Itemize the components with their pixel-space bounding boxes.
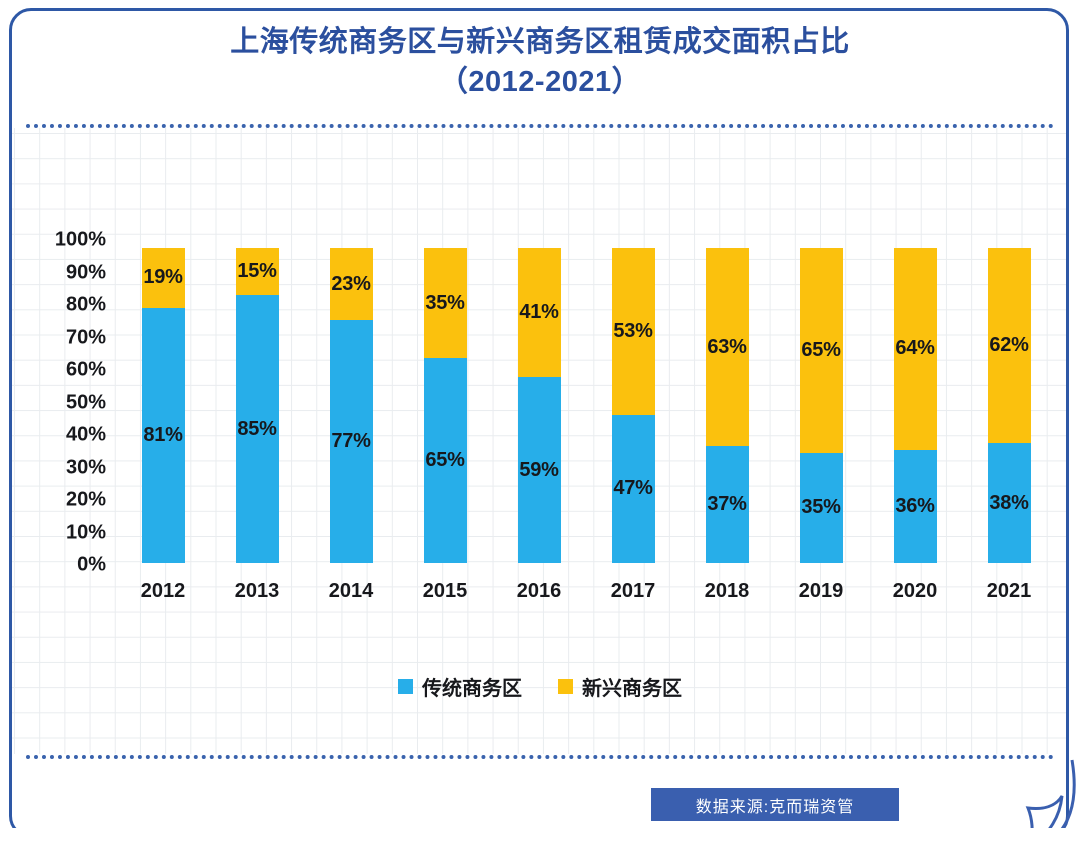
bar-segment-emerging[interactable]: 35% bbox=[424, 248, 467, 358]
bar-series-group: 19%81%15%85%23%77%35%65%41%59%53%47%63%3… bbox=[116, 248, 1056, 563]
legend-label: 新兴商务区 bbox=[582, 672, 682, 701]
y-axis-tick-label: 100% bbox=[22, 229, 106, 252]
bar-column[interactable]: 62%38% bbox=[962, 248, 1056, 563]
bar-value-label-emerging: 35% bbox=[425, 292, 464, 315]
x-axis-tick-label: 2021 bbox=[962, 580, 1056, 603]
bar-value-label-emerging: 64% bbox=[895, 337, 934, 360]
bar-column[interactable]: 41%59% bbox=[492, 248, 586, 563]
bar-segment-traditional[interactable]: 77% bbox=[330, 320, 373, 563]
bar-value-label-emerging: 63% bbox=[707, 336, 746, 359]
legend-item[interactable]: 新兴商务区 bbox=[558, 672, 682, 701]
bar-segment-traditional[interactable]: 35% bbox=[800, 453, 843, 563]
bar-segment-traditional[interactable]: 36% bbox=[894, 450, 937, 563]
bar-value-label-emerging: 41% bbox=[519, 301, 558, 324]
bar-segment-traditional[interactable]: 81% bbox=[142, 308, 185, 563]
bar-value-label-traditional: 65% bbox=[425, 449, 464, 472]
bar-column[interactable]: 65%35% bbox=[774, 248, 868, 563]
y-axis-tick-label: 70% bbox=[22, 326, 106, 349]
chart-page: 上海传统商务区与新兴商务区租赁成交面积占比 （2012-2021） 100%90… bbox=[0, 0, 1080, 856]
bar-segment-traditional[interactable]: 37% bbox=[706, 446, 749, 563]
bar-segment-emerging[interactable]: 63% bbox=[706, 248, 749, 446]
bar-column[interactable]: 64%36% bbox=[868, 248, 962, 563]
legend-item[interactable]: 传统商务区 bbox=[398, 672, 522, 701]
bar-value-label-emerging: 62% bbox=[989, 334, 1028, 357]
bar-value-label-traditional: 35% bbox=[801, 496, 840, 519]
bar-value-label-traditional: 38% bbox=[989, 492, 1028, 515]
bar-segment-emerging[interactable]: 62% bbox=[988, 248, 1031, 443]
bar-value-label-emerging: 65% bbox=[801, 339, 840, 362]
x-axis-tick-label: 2014 bbox=[304, 580, 398, 603]
x-axis-tick-label: 2019 bbox=[774, 580, 868, 603]
y-axis-tick-label: 80% bbox=[22, 294, 106, 317]
bar-segment-traditional[interactable]: 65% bbox=[424, 358, 467, 563]
x-axis: 2012201320142015201620172018201920202021 bbox=[116, 580, 1056, 603]
bar-column[interactable]: 19%81% bbox=[116, 248, 210, 563]
bar-value-label-emerging: 19% bbox=[143, 266, 182, 289]
bar-segment-emerging[interactable]: 41% bbox=[518, 248, 561, 377]
x-axis-tick-label: 2020 bbox=[868, 580, 962, 603]
bar-value-label-traditional: 59% bbox=[519, 459, 558, 482]
y-axis-tick-label: 90% bbox=[22, 261, 106, 284]
bar-column[interactable]: 53%47% bbox=[586, 248, 680, 563]
x-axis-tick-label: 2012 bbox=[116, 580, 210, 603]
bar-column[interactable]: 35%65% bbox=[398, 248, 492, 563]
bar-value-label-traditional: 85% bbox=[237, 418, 276, 441]
bar-column[interactable]: 23%77% bbox=[304, 248, 398, 563]
bar-value-label-traditional: 77% bbox=[331, 430, 370, 453]
x-axis-tick-label: 2016 bbox=[492, 580, 586, 603]
stacked-bar-chart: 100%90%80%70%60%50%40%30%20%10%0% 19%81%… bbox=[0, 0, 1080, 856]
frame-bottom-mask bbox=[0, 828, 1080, 856]
legend-swatch-icon bbox=[398, 679, 413, 694]
x-axis-tick-label: 2017 bbox=[586, 580, 680, 603]
y-axis-tick-label: 40% bbox=[22, 424, 106, 447]
chart-legend: 传统商务区新兴商务区 bbox=[0, 672, 1080, 701]
bar-segment-emerging[interactable]: 19% bbox=[142, 248, 185, 308]
y-axis-tick-label: 30% bbox=[22, 456, 106, 479]
bar-value-label-emerging: 23% bbox=[331, 273, 370, 296]
source-text: 数据来源:克而瑞资管 bbox=[696, 793, 854, 817]
legend-swatch-icon bbox=[558, 679, 573, 694]
bar-value-label-emerging: 15% bbox=[237, 260, 276, 283]
legend-label: 传统商务区 bbox=[422, 672, 522, 701]
bar-segment-emerging[interactable]: 65% bbox=[800, 248, 843, 453]
bar-value-label-emerging: 53% bbox=[613, 320, 652, 343]
x-axis-tick-label: 2013 bbox=[210, 580, 304, 603]
y-axis-tick-label: 20% bbox=[22, 489, 106, 512]
bar-value-label-traditional: 47% bbox=[613, 477, 652, 500]
y-axis-tick-label: 10% bbox=[22, 521, 106, 544]
y-axis-tick-label: 0% bbox=[22, 554, 106, 577]
bar-column[interactable]: 63%37% bbox=[680, 248, 774, 563]
source-badge: 数据来源:克而瑞资管 bbox=[651, 788, 899, 821]
bar-segment-emerging[interactable]: 53% bbox=[612, 248, 655, 415]
bar-segment-traditional[interactable]: 47% bbox=[612, 415, 655, 563]
bar-segment-traditional[interactable]: 59% bbox=[518, 377, 561, 563]
x-axis-tick-label: 2015 bbox=[398, 580, 492, 603]
x-axis-tick-label: 2018 bbox=[680, 580, 774, 603]
bar-segment-traditional[interactable]: 85% bbox=[236, 295, 279, 563]
bar-value-label-traditional: 36% bbox=[895, 495, 934, 518]
bar-column[interactable]: 15%85% bbox=[210, 248, 304, 563]
bar-segment-emerging[interactable]: 64% bbox=[894, 248, 937, 450]
bar-value-label-traditional: 81% bbox=[143, 424, 182, 447]
y-axis-tick-label: 60% bbox=[22, 359, 106, 382]
bar-segment-emerging[interactable]: 15% bbox=[236, 248, 279, 295]
bar-segment-traditional[interactable]: 38% bbox=[988, 443, 1031, 563]
y-axis-tick-label: 50% bbox=[22, 391, 106, 414]
bar-value-label-traditional: 37% bbox=[707, 493, 746, 516]
bar-segment-emerging[interactable]: 23% bbox=[330, 248, 373, 320]
y-axis: 100%90%80%70%60%50%40%30%20%10%0% bbox=[22, 240, 106, 565]
